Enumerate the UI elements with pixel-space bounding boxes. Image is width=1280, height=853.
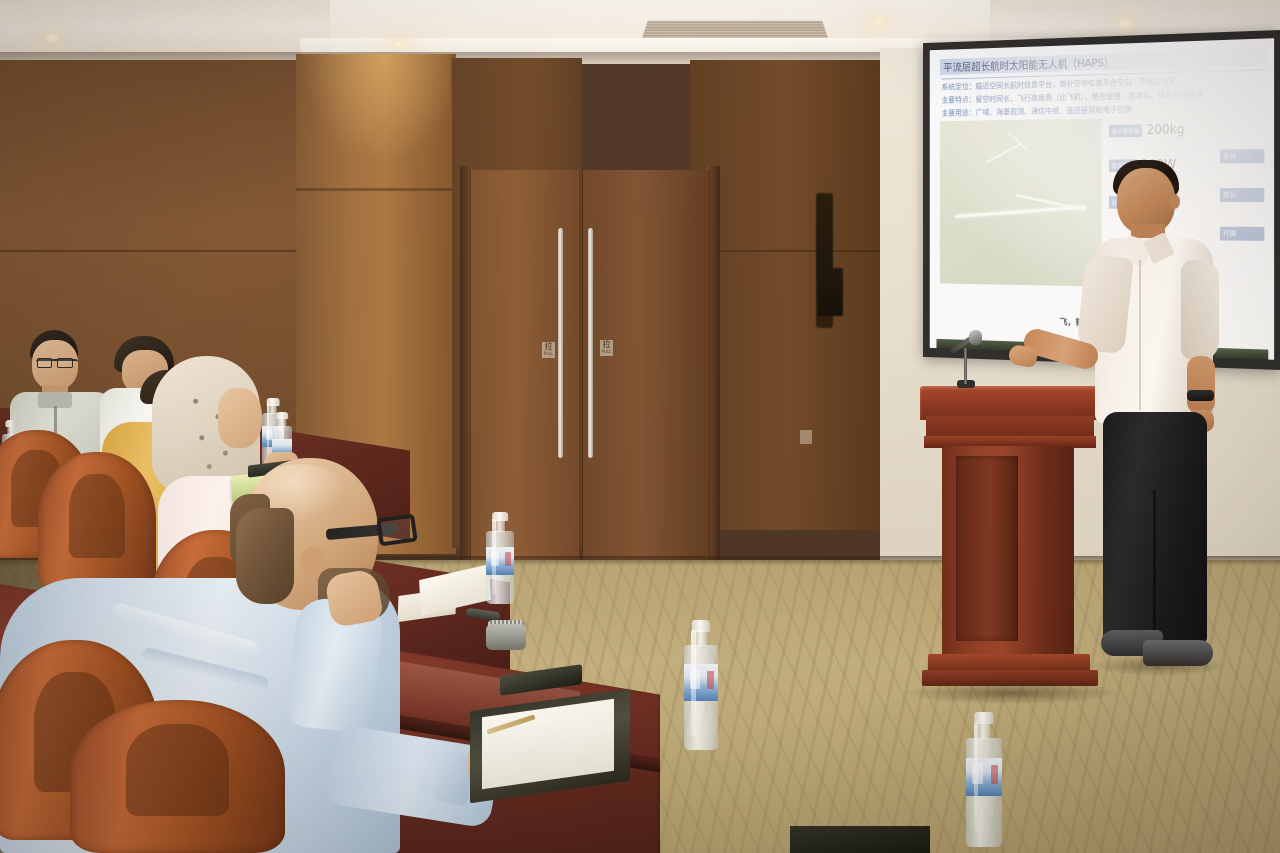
conference-room-photo: 拉 PULL 拉 PULL 会议室 MEETING 平流层超长航时太阳能无人机（… <box>0 0 1280 853</box>
wall-speaker-body <box>818 268 843 316</box>
wall-panel-seam <box>690 250 905 252</box>
slide-right-chips: 有效 超长 开展 <box>1220 149 1264 266</box>
wood-wall-right <box>690 60 905 530</box>
chair[interactable] <box>38 452 156 592</box>
pull-sign-subtext: PULL <box>542 352 555 356</box>
uav-tail-boom <box>986 142 1023 163</box>
slide-uav-photo <box>940 118 1102 286</box>
chair-back-slot <box>126 724 229 816</box>
wall-light-glow <box>300 54 450 164</box>
downlight-icon <box>44 32 60 43</box>
pull-sign-subtext: PULL <box>600 350 613 354</box>
spec-tag: 最大载重量 <box>1109 124 1142 137</box>
slide-chip: 开展 <box>1220 227 1264 241</box>
presenter-sleeve-right <box>1181 260 1219 360</box>
water-bottle <box>684 620 718 750</box>
chair-back-slot <box>69 474 126 558</box>
door-handle-icon[interactable] <box>558 228 563 458</box>
presenter-sleeve-left <box>1076 254 1134 354</box>
slide-spec-row: 最大载重量 200kg <box>1109 121 1266 138</box>
gooseneck-microphone <box>945 330 985 390</box>
eyeglass-lens-left <box>37 358 52 368</box>
hvac-vent-icon <box>642 21 828 38</box>
downlight-icon <box>870 16 886 27</box>
presenter-at-podium <box>1095 160 1215 700</box>
spec-value: 200kg <box>1147 123 1185 138</box>
lectern-shadow <box>904 682 1119 704</box>
door-pull-sign-right: 拉 PULL <box>600 340 613 356</box>
wrist-watch-icon <box>1187 390 1214 401</box>
presenter-leg-seam <box>1153 490 1156 642</box>
hair-side <box>236 508 294 604</box>
presenter-shirt-placket <box>1139 260 1141 410</box>
lectern-top <box>920 386 1100 420</box>
microphone-head-icon <box>969 330 982 345</box>
downlight-icon <box>1117 18 1133 29</box>
door-pull-sign-left: 拉 PULL <box>542 342 555 358</box>
pull-sign-text: 拉 <box>603 340 611 349</box>
pull-sign-text: 拉 <box>545 342 553 351</box>
presenter-ear <box>1169 194 1180 209</box>
eyeglasses-lens-icon <box>376 513 418 546</box>
wall-panel-seam <box>296 188 456 191</box>
eyeglass-lens-right <box>57 358 73 368</box>
water-bottle <box>966 712 1002 847</box>
wall-outlet <box>800 430 812 444</box>
door-handle-icon[interactable] <box>588 228 593 458</box>
dark-object-on-table <box>790 826 930 853</box>
microphone-pole <box>964 348 967 384</box>
lectern-top-face <box>926 416 1094 438</box>
slide-title: 平流层超长航时太阳能无人机（HAPS） <box>943 54 1114 74</box>
slide-chip: 有效 <box>1220 149 1264 163</box>
face <box>218 388 262 448</box>
lectern-front-panel <box>956 456 1018 641</box>
presenter-floor-shadow <box>1089 656 1229 676</box>
wooden-lectern <box>920 386 1100 698</box>
slide-chip: 超长 <box>1220 188 1264 202</box>
downlight-icon <box>391 38 407 49</box>
chair[interactable] <box>70 700 285 853</box>
wall-panel-seam <box>0 250 300 252</box>
presenter-forearm-right <box>1187 356 1215 414</box>
